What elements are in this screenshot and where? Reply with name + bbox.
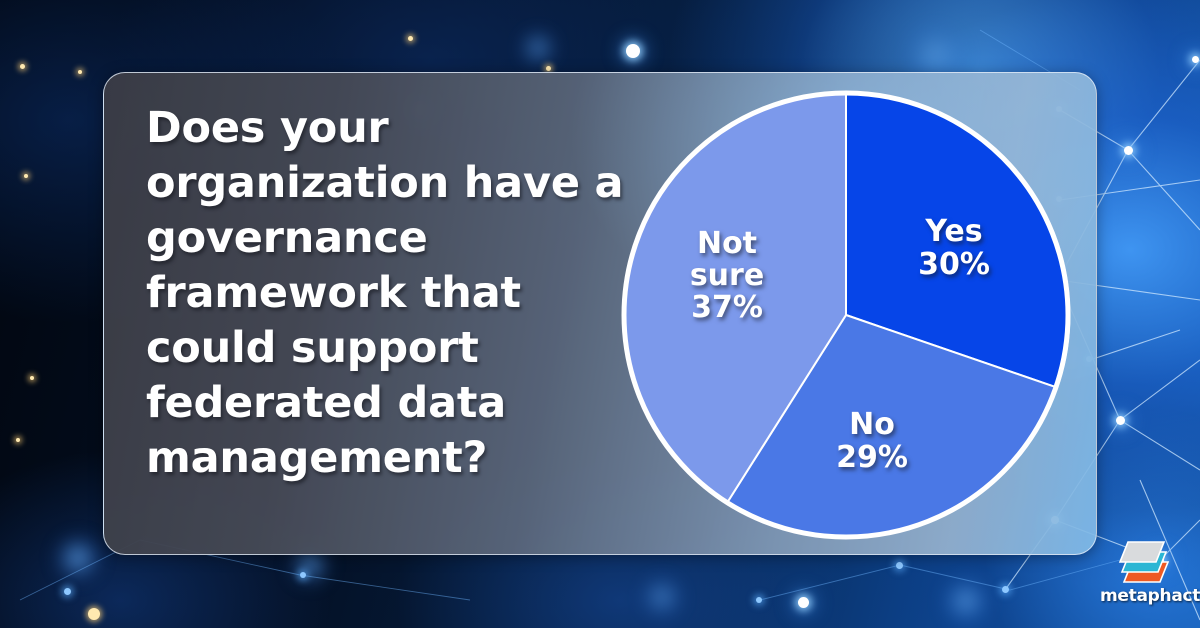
pie-label-not-sure: Not sure 37% <box>690 226 764 325</box>
pie-label-yes-name: Yes <box>924 214 982 249</box>
pie-label-yes-value: 30% <box>918 247 990 282</box>
logo-layer-top <box>1120 542 1164 562</box>
poster-canvas: Does your organization have a governance… <box>0 0 1200 628</box>
pie-label-no-value: 29% <box>836 440 908 475</box>
logo-wordmark: metaphacts <box>1100 586 1192 606</box>
pie-label-yes: Yes 30% <box>918 214 990 282</box>
content-card: Does your organization have a governance… <box>103 72 1097 555</box>
pie-label-not-sure-name-2: sure <box>690 258 764 293</box>
metaphacts-layers-icon <box>1110 540 1182 584</box>
pie-chart-svg: Yes 30% No 29% Not sure 37% <box>614 83 1078 547</box>
pie-label-no-name: No <box>849 407 895 442</box>
metaphacts-logo[interactable]: metaphacts <box>1100 540 1192 618</box>
pie-label-not-sure-value: 37% <box>691 290 763 325</box>
pie-label-not-sure-name-1: Not <box>697 226 757 261</box>
pie-chart: Yes 30% No 29% Not sure 37% <box>614 83 1078 547</box>
page-title: Does your organization have a governance… <box>146 101 651 486</box>
